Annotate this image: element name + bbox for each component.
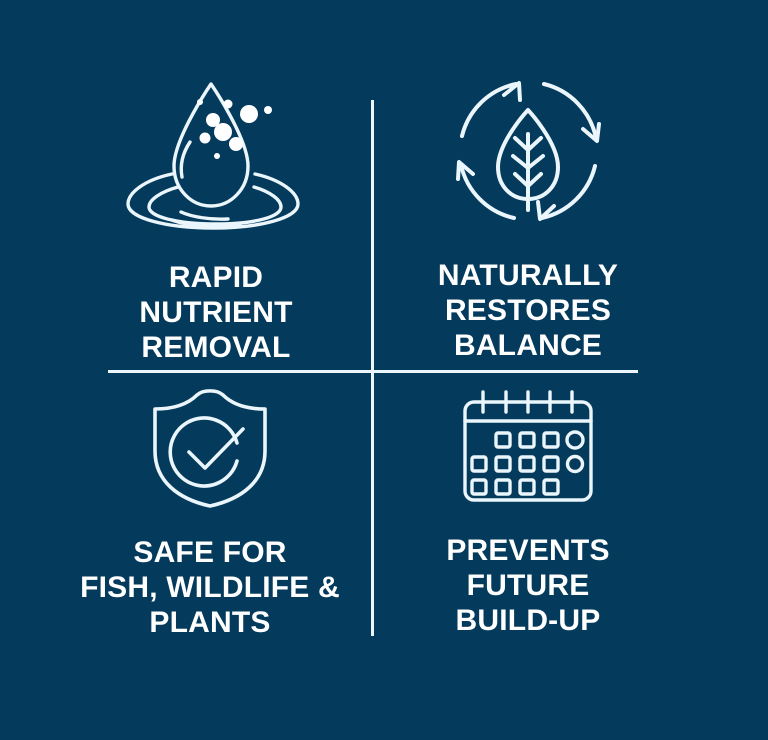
icon-container <box>116 70 316 235</box>
calendar-icon <box>458 390 598 505</box>
feature-caption: NATURALLY RESTORES BALANCE <box>438 258 618 363</box>
feature-safe-for-fish-wildlife-plants: SAFE FOR FISH, WILDLIFE & PLANTS <box>48 385 372 640</box>
feature-prevents-future-build-up: PREVENTS FUTURE BUILD-UP <box>372 385 684 640</box>
water-drop-ripple-icon <box>116 70 316 235</box>
feature-rapid-nutrient-removal: RAPID NUTRIENT REMOVAL <box>60 70 372 370</box>
feature-caption: PREVENTS FUTURE BUILD-UP <box>446 533 609 638</box>
bubble-group <box>197 99 272 159</box>
feature-naturally-restores-balance: NATURALLY RESTORES BALANCE <box>372 70 684 370</box>
leaf-recycle-icon <box>448 72 608 230</box>
icon-container <box>458 385 598 505</box>
icon-container <box>448 70 608 230</box>
feature-grid-graphic: RAPID NUTRIENT REMOVAL <box>0 0 768 740</box>
icon-container <box>145 385 275 509</box>
feature-caption: SAFE FOR FISH, WILDLIFE & PLANTS <box>80 535 340 640</box>
shield-check-icon <box>145 389 275 509</box>
divider-horizontal <box>108 370 638 373</box>
feature-caption: RAPID NUTRIENT REMOVAL <box>139 260 292 365</box>
